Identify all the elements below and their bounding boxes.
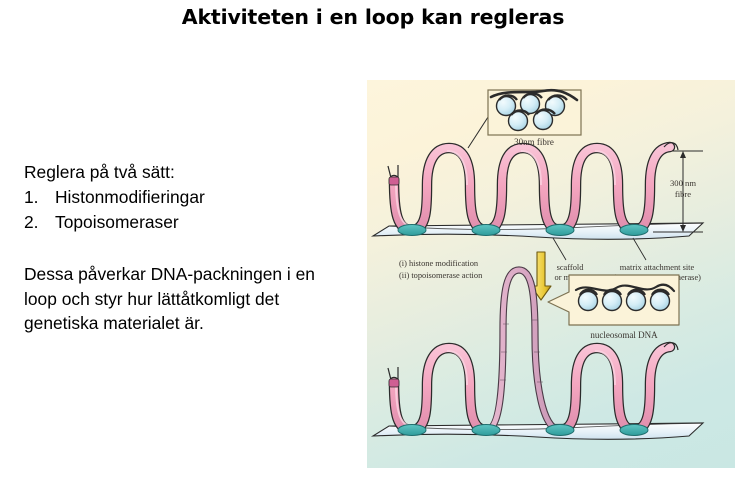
body-text-block: Reglera på två sätt: 1. Histonmodifierin… bbox=[24, 160, 344, 336]
scaffold-label-line1: scaffold bbox=[557, 263, 585, 272]
chromatin-loop-regulation-diagram: 300 nm fibre bbox=[367, 80, 735, 468]
transition-step-annotations: (i) histone modification (ii) topoisomer… bbox=[399, 259, 483, 280]
list-item-number: 2. bbox=[24, 210, 39, 235]
scaffold-leader-line bbox=[553, 238, 566, 260]
inset-nucleosomal-dna bbox=[548, 275, 679, 325]
inset-label-30nm-fibre: 30nm fibre bbox=[514, 137, 554, 147]
attachment-leader-line bbox=[633, 238, 646, 260]
inset-label-nucleosomal-dna: nucleosomal DNA bbox=[590, 330, 658, 340]
chromatin-loops-bottom bbox=[394, 347, 670, 430]
list-item: 2. Topoisomeraser bbox=[24, 210, 344, 235]
attachment-label-line1: matrix attachment site bbox=[620, 263, 695, 272]
page-title: Aktiviteten i en loop kan regleras bbox=[0, 5, 746, 29]
list-item-label: Topoisomeraser bbox=[55, 212, 179, 232]
summary-paragraph-block: Dessa påverkar DNA-packningen i en loop … bbox=[24, 262, 344, 336]
scale-label-300nm-line1: 300 nm bbox=[670, 178, 696, 188]
scale-label-300nm-line2: fibre bbox=[675, 189, 691, 199]
transition-step-ii: (ii) topoisomerase action bbox=[399, 271, 483, 280]
transition-step-i: (i) histone modification bbox=[399, 259, 479, 268]
chromatin-loops-top bbox=[394, 147, 670, 230]
decondensed-loop bbox=[486, 270, 560, 430]
list-item: 1. Histonmodifieringar bbox=[24, 185, 344, 210]
regulation-methods-list: 1. Histonmodifieringar 2. Topoisomeraser bbox=[24, 185, 344, 235]
list-item-label: Histonmodifieringar bbox=[55, 187, 205, 207]
intro-line: Reglera på två sätt: bbox=[24, 160, 344, 185]
list-item-number: 1. bbox=[24, 185, 39, 210]
summary-paragraph: Dessa påverkar DNA-packningen i en loop … bbox=[24, 262, 324, 336]
